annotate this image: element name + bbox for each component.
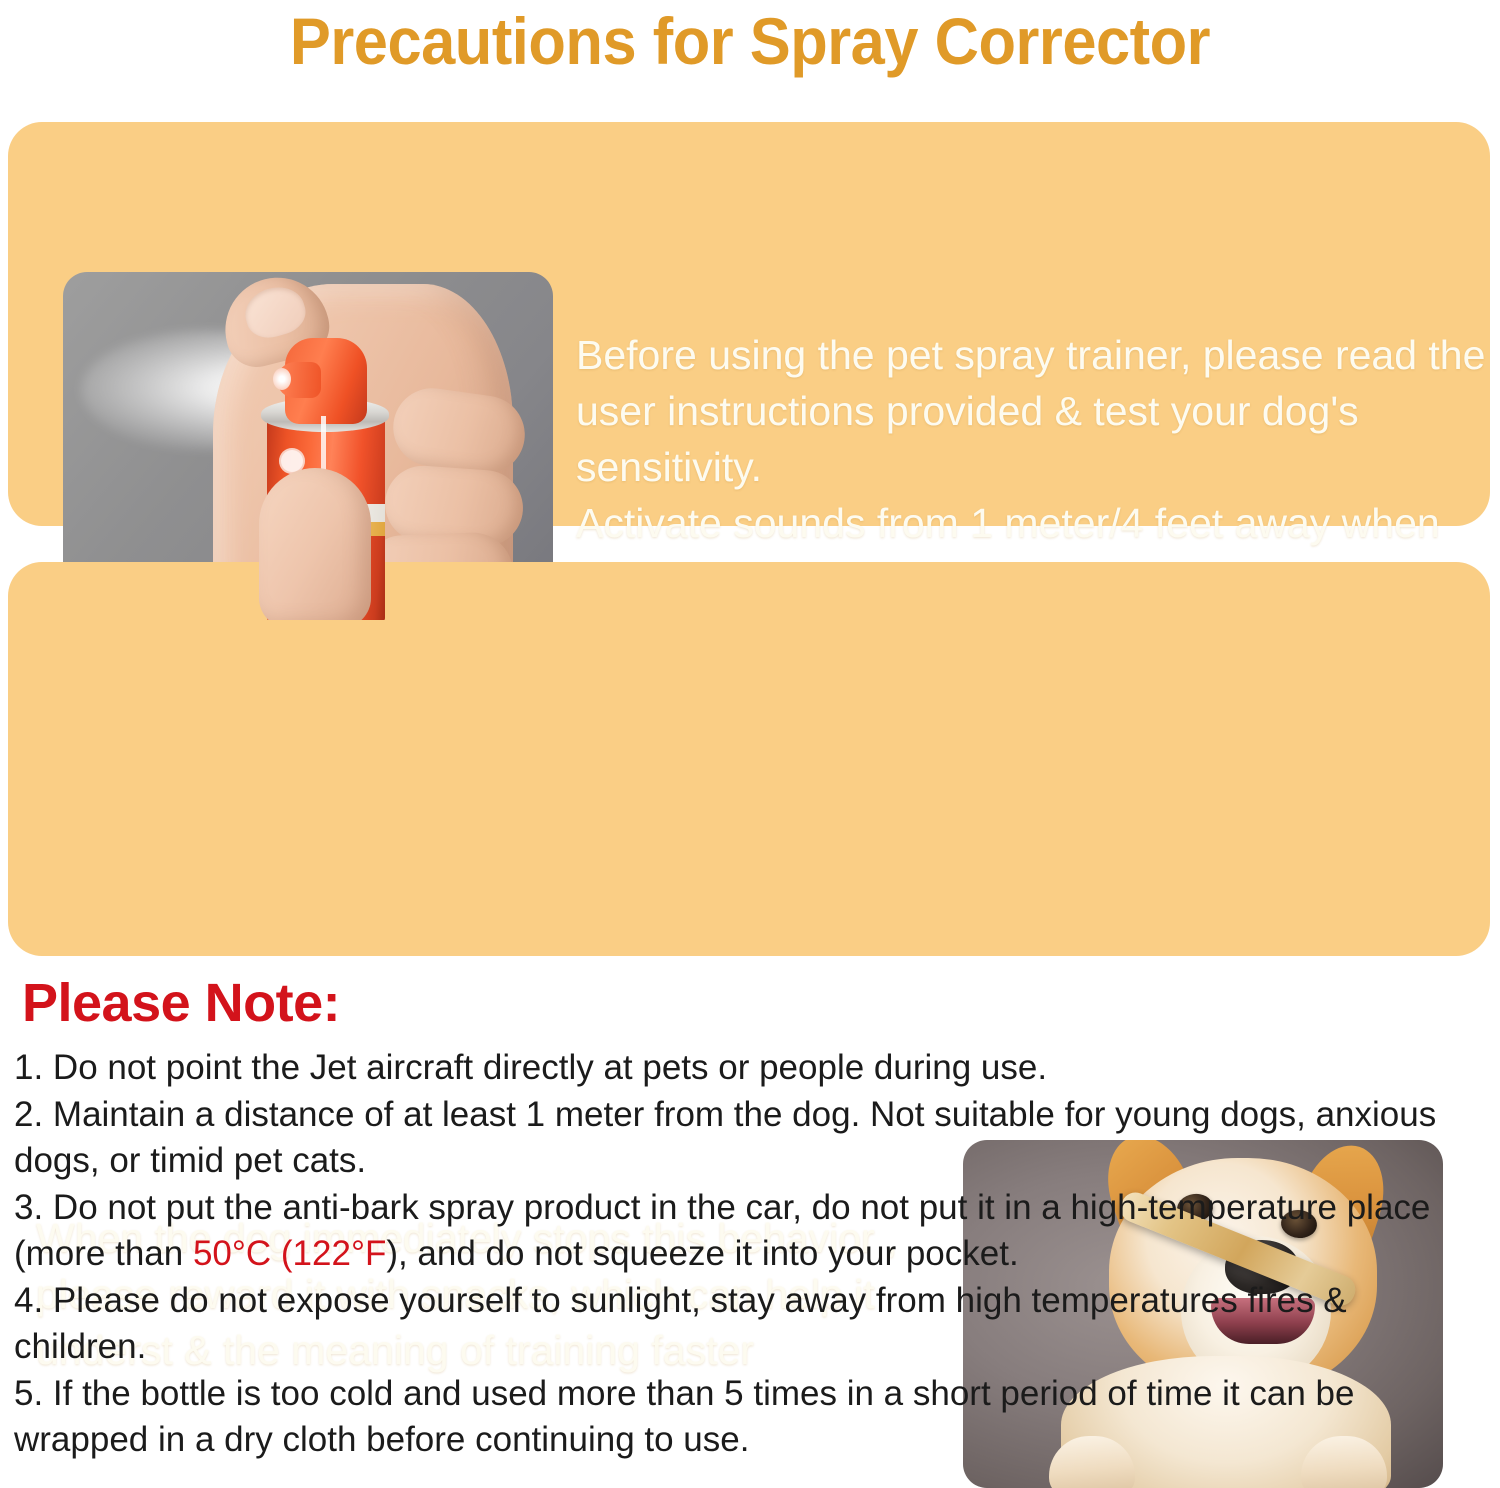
note-item: 3. Do not put the anti-bark spray produc… xyxy=(14,1185,1486,1277)
precaution-panel-1: Pet Before using the pet spray trainer, … xyxy=(8,122,1490,526)
can-nozzle xyxy=(285,338,367,424)
note-item-highlight: 50°C (122°F xyxy=(193,1234,386,1273)
thumb xyxy=(259,468,371,620)
note-item-text: 4. Please do not expose yourself to sunl… xyxy=(14,1281,1347,1366)
note-item: 4. Please do not expose yourself to sunl… xyxy=(14,1278,1486,1370)
nozzle-hole xyxy=(273,368,291,390)
please-note-heading: Please Note: xyxy=(22,972,340,1034)
please-note-list: 1. Do not point the Jet aircraft directl… xyxy=(14,1045,1486,1464)
note-item-text: 5. If the bottle is too cold and used mo… xyxy=(14,1374,1354,1459)
note-item: 2. Maintain a distance of at least 1 met… xyxy=(14,1092,1486,1184)
note-item: 5. If the bottle is too cold and used mo… xyxy=(14,1371,1486,1463)
note-item: 1. Do not point the Jet aircraft directl… xyxy=(14,1045,1486,1091)
note-item-text: 2. Maintain a distance of at least 1 met… xyxy=(14,1095,1436,1180)
page-title: Precautions for Spray Corrector xyxy=(53,2,1448,80)
note-item-text: 1. Do not point the Jet aircraft directl… xyxy=(14,1048,1047,1087)
note-item-text: ), and do not squeeze it into your pocke… xyxy=(386,1234,1018,1273)
precaution-panel-2: When the dog immediately stops this beha… xyxy=(8,562,1490,956)
